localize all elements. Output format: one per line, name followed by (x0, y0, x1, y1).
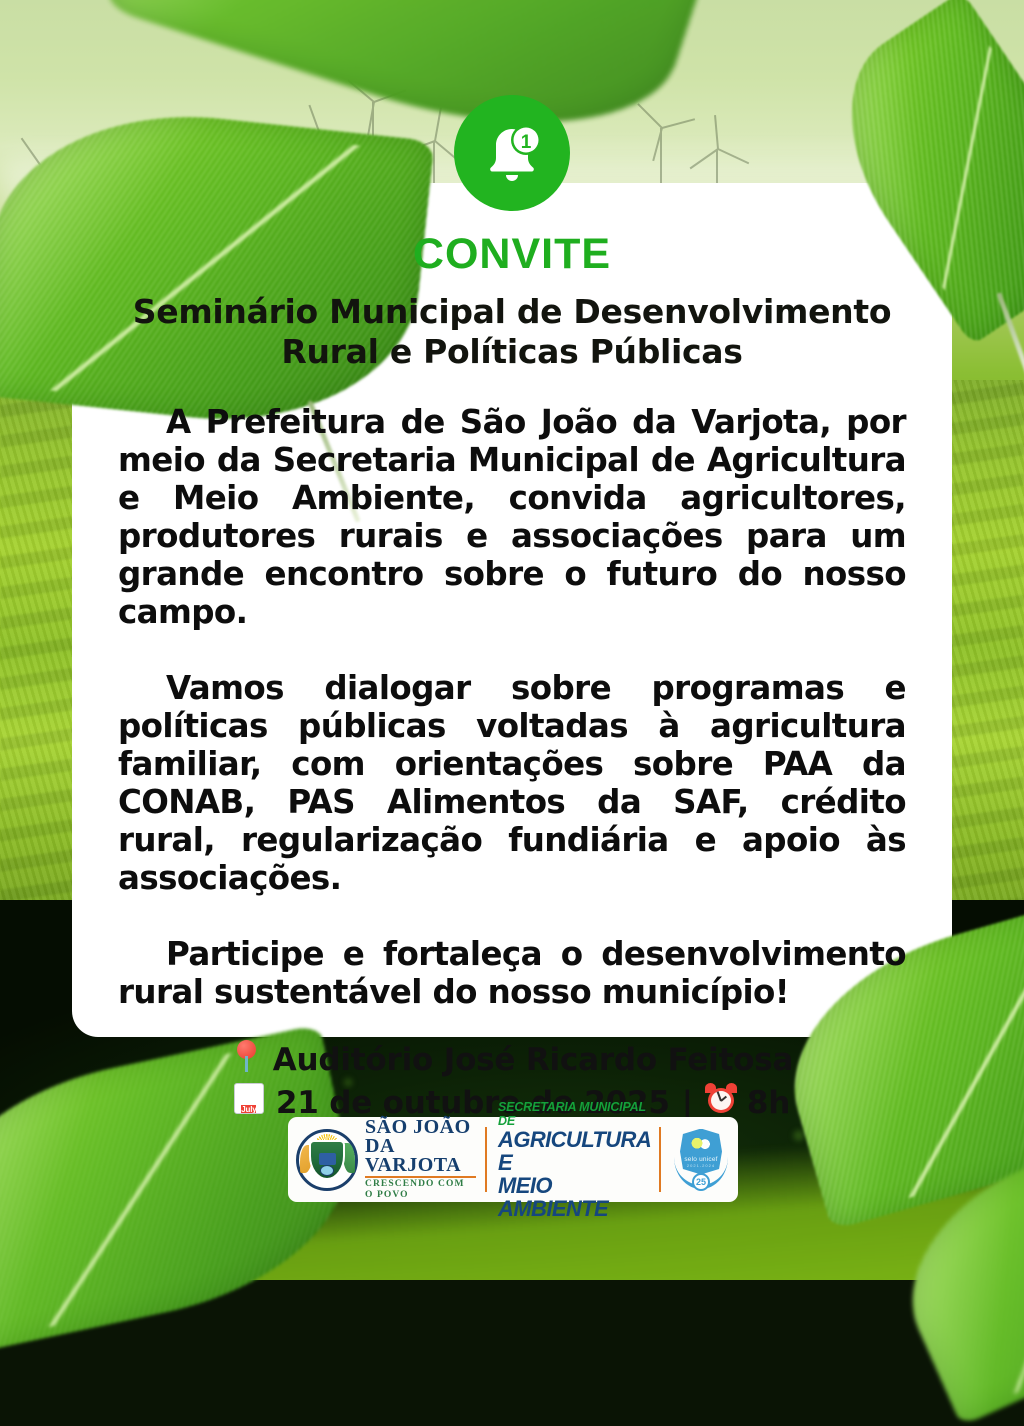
venue-name: Auditório José Ricardo Feitosa (273, 1042, 794, 1080)
secretariat-block: SECRETARIA MUNICIPAL DE AGRICULTURA E ME… (498, 1100, 650, 1220)
calendar-icon: July 17 (234, 1083, 264, 1124)
city-slogan: CRESCENDO COM O POVO (365, 1179, 476, 1201)
secretariat-line-2: AGRICULTURA E (498, 1128, 650, 1174)
footer-logo-bar: SÃO JOÃO DA VARJOTA CRESCENDO COM O POVO… (288, 1117, 738, 1202)
event-subtitle: Seminário Municipal de Desenvolvimento R… (118, 292, 906, 373)
paragraph-intro: A Prefeitura de São João da Varjota, por… (118, 403, 906, 631)
page-title: CONVITE (118, 233, 906, 276)
svg-text:1: 1 (521, 132, 532, 153)
venue-row: Auditório José Ricardo Feitosa (118, 1039, 906, 1083)
invitation-content: CONVITE Seminário Municipal de Desenvolv… (72, 183, 952, 1037)
city-name-block: SÃO JOÃO DA VARJOTA CRESCENDO COM O POVO (365, 1118, 476, 1201)
selo-unicef-icon: selo unicef 2021-2024 25 (672, 1127, 730, 1193)
divider (365, 1176, 476, 1178)
secretariat-line-3: MEIO AMBIENTE (498, 1174, 650, 1220)
calendar-month-label: July (241, 1105, 256, 1114)
secretariat-line-1: SECRETARIA MUNICIPAL DE (498, 1100, 650, 1128)
paragraph-call-to-action: Participe e fortaleça o desenvolvimento … (118, 935, 906, 1011)
city-logo: SÃO JOÃO DA VARJOTA CRESCENDO COM O POVO (296, 1118, 476, 1201)
city-name-line-2: DA VARJOTA (365, 1137, 476, 1175)
unicef-years-badge: 25 (692, 1173, 710, 1191)
location-pin-icon (231, 1039, 261, 1083)
event-time: 8h (747, 1085, 790, 1123)
divider (485, 1127, 487, 1192)
city-coat-of-arms-icon (296, 1129, 358, 1191)
divider (659, 1127, 661, 1192)
paragraph-topics: Vamos dialogar sobre programas e polític… (118, 669, 906, 897)
